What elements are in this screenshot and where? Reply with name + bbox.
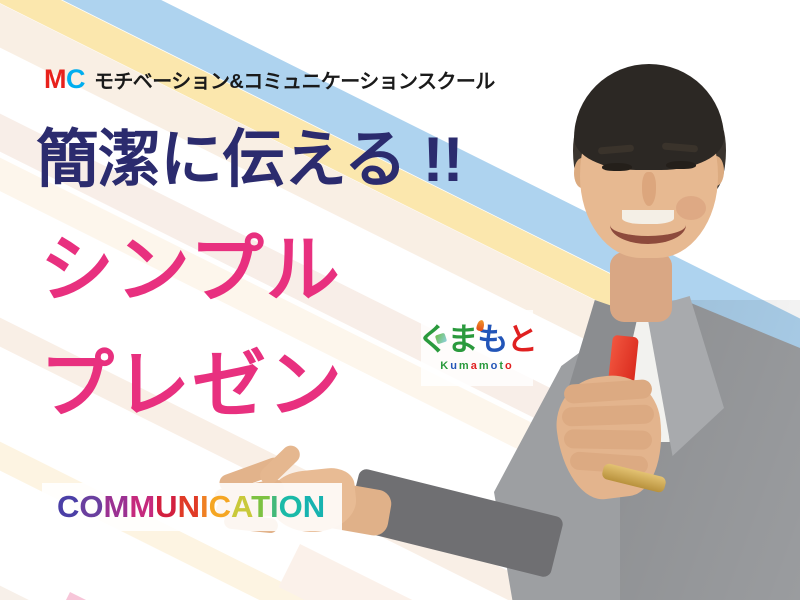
eye-right	[666, 161, 696, 169]
subtitle-line-2: プレゼン	[40, 348, 344, 422]
neck	[610, 252, 672, 322]
colored-letter: T	[251, 489, 270, 524]
mc-logo-letter-c: C	[66, 64, 85, 94]
colored-letter: I	[200, 489, 209, 524]
eye-left	[602, 163, 632, 171]
brand-logo-row: MC モチベーション&コミュニケーションスクール	[44, 64, 495, 95]
colored-letter: m	[479, 360, 491, 372]
school-name: モチベーション&コミュニケーションスクール	[94, 65, 495, 94]
colored-letter: o	[505, 360, 514, 372]
mc-logo-letter-m: M	[44, 64, 66, 94]
communication-word: COMMUNICATION	[57, 489, 325, 525]
colored-letter: m	[459, 360, 471, 372]
kumamoto-logo-romaji: Kumamoto	[440, 360, 514, 372]
mc-logo: MC	[44, 64, 85, 95]
colored-letter: M	[104, 489, 130, 524]
colored-letter: C	[57, 489, 79, 524]
kumamoto-logo: くまもと Kumamoto	[421, 310, 533, 386]
subtitle-line-1: シンプル	[40, 233, 342, 307]
colored-letter: O	[79, 489, 103, 524]
colored-letter: N	[303, 489, 325, 524]
colored-letter: M	[129, 489, 155, 524]
kumamoto-logo-kana: くまもと	[417, 324, 536, 355]
colored-letter: U	[155, 489, 177, 524]
colored-letter: I	[270, 489, 279, 524]
colored-letter: C	[209, 489, 231, 524]
smiling-mouth	[610, 206, 686, 244]
presenter-photo	[470, 0, 800, 600]
colored-letter: ま	[447, 322, 477, 357]
colored-letter: O	[279, 489, 303, 524]
finger	[562, 404, 655, 426]
nose	[642, 172, 656, 206]
finger	[564, 429, 652, 450]
headline: 簡潔に伝える !!	[36, 129, 463, 192]
colored-letter: K	[440, 360, 450, 372]
hair	[574, 64, 724, 170]
colored-letter: N	[178, 489, 200, 524]
promo-banner: MC モチベーション&コミュニケーションスクール 簡潔に伝える !! シンプル …	[0, 0, 800, 600]
communication-badge: COMMUNICATION	[42, 483, 342, 531]
colored-letter: u	[450, 360, 459, 372]
colored-letter: a	[471, 360, 479, 372]
colored-letter: と	[507, 322, 537, 357]
colored-letter: A	[231, 489, 251, 524]
